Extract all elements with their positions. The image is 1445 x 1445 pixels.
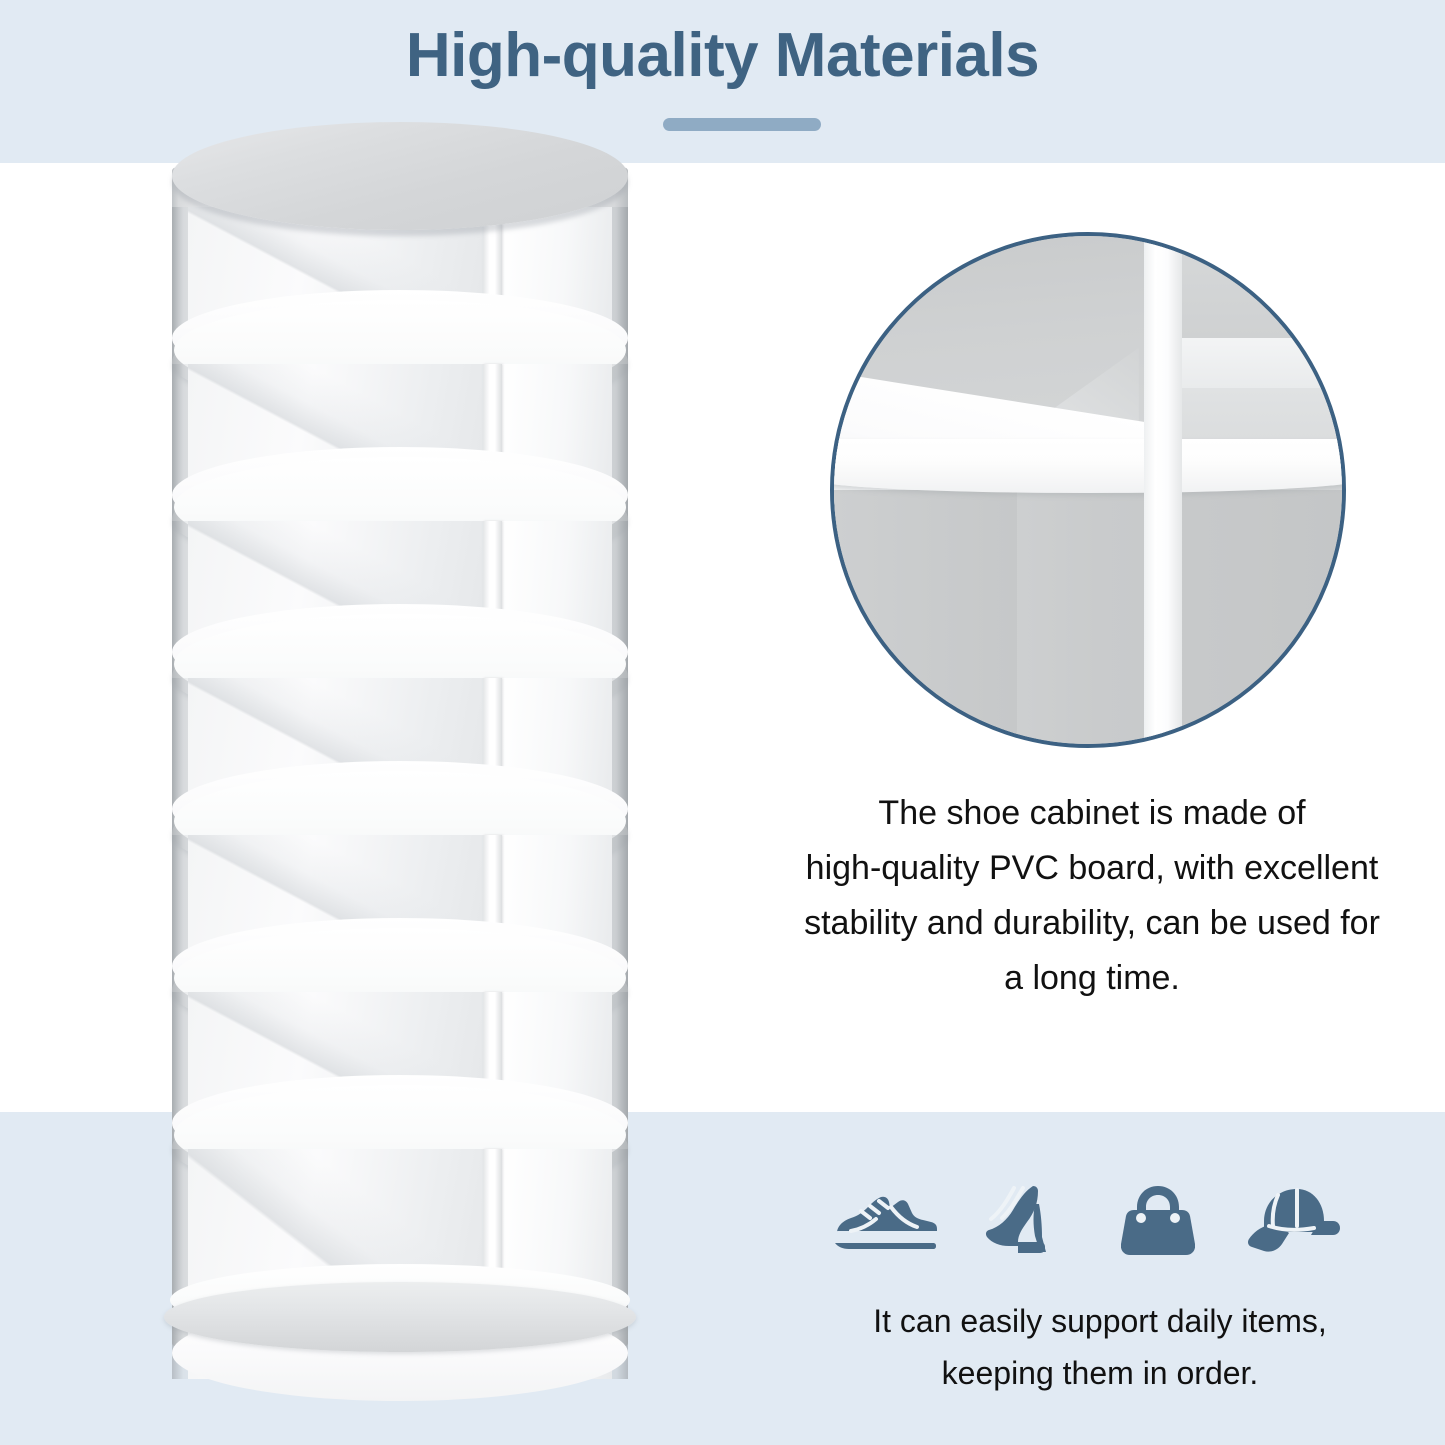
description-line: high-quality PVC board, with excellent <box>768 841 1416 896</box>
closeup-middle-shelf <box>830 439 1346 492</box>
description-line: The shoe cabinet is made of <box>768 786 1416 841</box>
materials-description: The shoe cabinet is made of high-quality… <box>768 786 1416 1006</box>
closeup-lower-left-cavity <box>834 490 1017 744</box>
supported-items-caption: It can easily support daily items, keepi… <box>790 1296 1410 1400</box>
high-heel-icon <box>967 1172 1077 1268</box>
cabinet-rotating-base <box>164 1282 636 1352</box>
closeup-right-shelf <box>1182 338 1346 389</box>
title-underline-rule <box>663 118 821 131</box>
handbag-icon <box>1103 1172 1213 1268</box>
description-line: stability and durability, can be used fo… <box>768 896 1416 951</box>
baseball-cap-icon <box>1240 1172 1350 1268</box>
cabinet-top-cap <box>172 122 628 230</box>
description-line: a long time. <box>768 951 1416 1006</box>
product-illustration <box>150 112 650 1432</box>
caption-line: It can easily support daily items, <box>790 1296 1410 1348</box>
closeup-divider-post <box>1144 236 1182 744</box>
infographic-page: High-quality Materials The shoe cabinet … <box>0 0 1445 1445</box>
supported-items-icon-row <box>830 1172 1350 1268</box>
page-title: High-quality Materials <box>0 22 1445 90</box>
caption-line: keeping them in order. <box>790 1348 1410 1400</box>
sneaker-icon <box>830 1172 940 1268</box>
closeup-right-upper-cavity <box>1182 236 1346 338</box>
detail-closeup-circle <box>830 232 1346 748</box>
